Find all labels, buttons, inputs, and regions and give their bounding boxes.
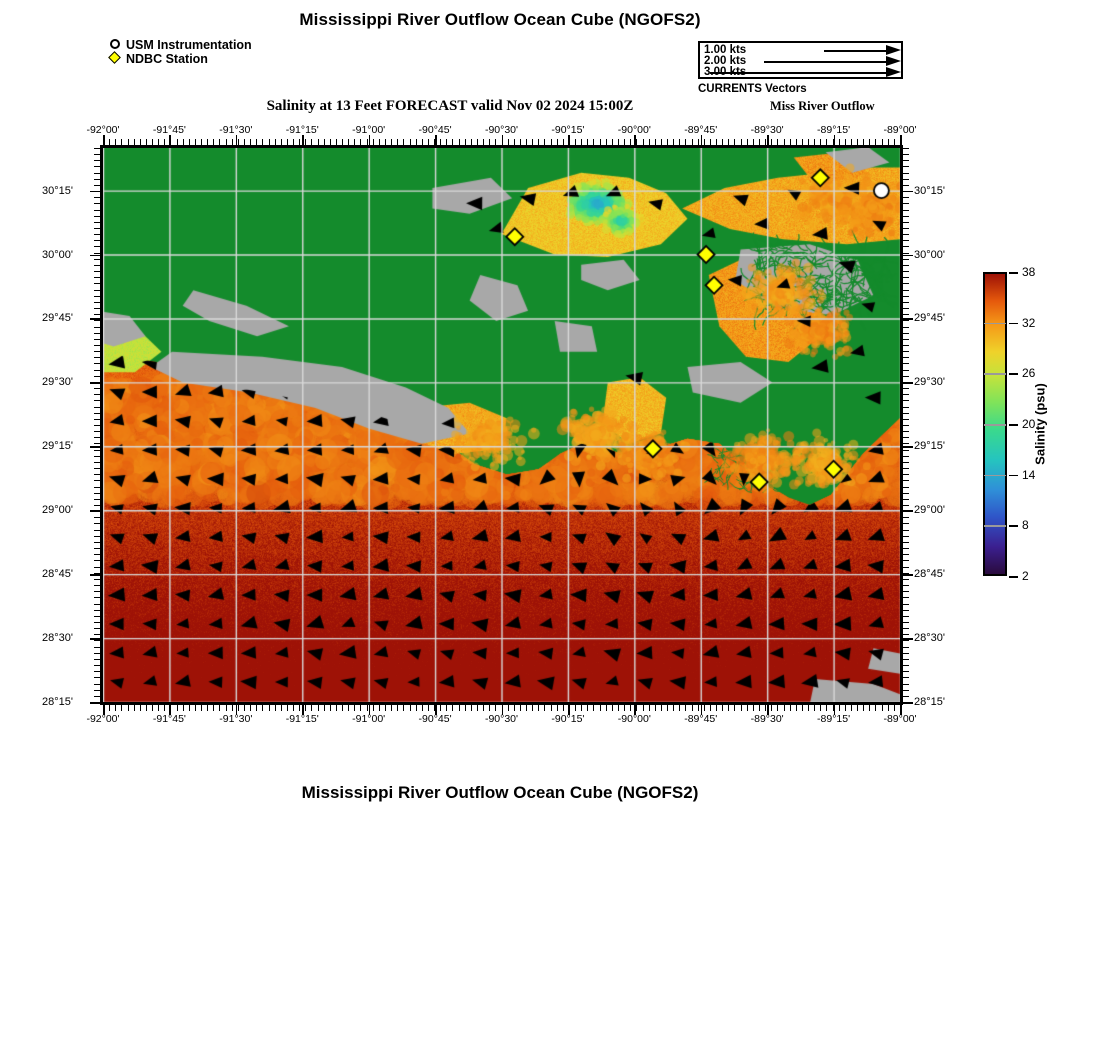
axis-minor-tick: [428, 139, 429, 145]
colorbar-tick: [1009, 475, 1018, 477]
axis-minor-tick: [661, 705, 662, 711]
axis-minor-tick: [189, 705, 190, 711]
axis-minor-tick: [207, 139, 208, 145]
axis-minor-tick: [894, 139, 895, 145]
frame-checker: [100, 387, 103, 396]
axis-minor-tick: [857, 139, 858, 145]
vector-arrow-head-icon: [886, 45, 901, 55]
axis-minor-tick: [226, 705, 227, 711]
axis-minor-tick: [452, 139, 453, 145]
axis-minor-tick: [134, 139, 135, 145]
axis-minor-tick: [177, 139, 178, 145]
axis-minor-tick: [397, 139, 398, 145]
axis-minor-tick: [94, 154, 100, 155]
axis-major-tick: [834, 135, 836, 145]
frame-checker: [729, 702, 738, 705]
axis-minor-tick: [649, 705, 650, 711]
axis-minor-tick: [618, 139, 619, 145]
axis-minor-tick: [140, 705, 141, 711]
axis-major-tick: [90, 574, 100, 576]
axis-minor-tick: [903, 480, 909, 481]
frame-checker: [710, 702, 719, 705]
latitude-tick-label: 29°30': [914, 376, 945, 388]
colorbar-tick-label: 32: [1022, 316, 1035, 330]
axis-minor-tick: [94, 517, 100, 518]
frame-checker: [379, 702, 388, 705]
axis-minor-tick: [636, 139, 637, 145]
axis-minor-tick: [128, 705, 129, 711]
frame-checker: [379, 145, 388, 148]
frame-checker: [765, 145, 774, 148]
axis-minor-tick: [94, 203, 100, 204]
axis-major-tick: [169, 705, 171, 715]
frame-checker: [692, 145, 701, 148]
axis-minor-tick: [440, 705, 441, 711]
axis-minor-tick: [587, 705, 588, 711]
axis-minor-tick: [581, 705, 582, 711]
axis-minor-tick: [679, 705, 680, 711]
axis-minor-tick: [226, 139, 227, 145]
axis-major-tick: [169, 135, 171, 145]
frame-checker: [821, 145, 830, 148]
axis-minor-tick: [903, 517, 909, 518]
frame-checker: [232, 145, 241, 148]
axis-minor-tick: [164, 705, 165, 711]
yellow-diamond-marker-icon: [108, 52, 126, 66]
axis-minor-tick: [710, 139, 711, 145]
axis-minor-tick: [903, 203, 909, 204]
axis-minor-tick: [544, 705, 545, 711]
axis-minor-tick: [903, 302, 909, 303]
frame-checker: [100, 314, 103, 323]
axis-minor-tick: [753, 705, 754, 711]
axis-minor-tick: [94, 290, 100, 291]
axis-major-tick: [767, 135, 769, 145]
axis-minor-tick: [875, 139, 876, 145]
frame-checker: [857, 702, 866, 705]
axis-minor-tick: [403, 139, 404, 145]
axis-minor-tick: [94, 345, 100, 346]
axis-minor-tick: [471, 705, 472, 711]
axis-minor-tick: [551, 705, 552, 711]
axis-minor-tick: [94, 148, 100, 149]
axis-minor-tick: [416, 705, 417, 711]
axis-minor-tick: [219, 705, 220, 711]
frame-checker: [121, 702, 130, 705]
currents-vector-legend: 1.00 kts2.00 kts3.00 kts: [698, 41, 903, 79]
axis-minor-tick: [903, 216, 909, 217]
frame-checker: [100, 608, 103, 617]
axis-minor-tick: [94, 246, 100, 247]
axis-minor-tick: [94, 413, 100, 414]
axis-minor-tick: [146, 139, 147, 145]
axis-minor-tick: [158, 139, 159, 145]
axis-minor-tick: [391, 139, 392, 145]
axis-minor-tick: [673, 139, 674, 145]
latitude-tick-label: 28°30': [914, 632, 945, 644]
axis-minor-tick: [903, 548, 909, 549]
axis-minor-tick: [514, 705, 515, 711]
axis-minor-tick: [903, 345, 909, 346]
axis-minor-tick: [94, 659, 100, 660]
map-plot-area[interactable]: [100, 145, 903, 705]
axis-minor-tick: [538, 705, 539, 711]
latitude-tick-label: 28°45': [42, 568, 73, 580]
axis-minor-tick: [903, 530, 909, 531]
axis-major-tick: [90, 382, 100, 384]
axis-minor-tick: [94, 647, 100, 648]
axis-minor-tick: [318, 705, 319, 711]
frame-checker: [100, 700, 103, 702]
axis-minor-tick: [94, 333, 100, 334]
axis-minor-tick: [575, 139, 576, 145]
frame-checker: [453, 145, 462, 148]
frame-checker: [839, 702, 848, 705]
frame-checker: [655, 702, 664, 705]
axis-minor-tick: [903, 628, 909, 629]
axis-minor-tick: [94, 622, 100, 623]
axis-minor-tick: [618, 705, 619, 711]
frame-checker: [100, 350, 103, 359]
axis-minor-tick: [189, 139, 190, 145]
axis-minor-tick: [164, 139, 165, 145]
axis-minor-tick: [903, 604, 909, 605]
axis-minor-tick: [336, 705, 337, 711]
axis-minor-tick: [636, 705, 637, 711]
frame-checker: [397, 702, 406, 705]
frame-checker: [784, 145, 793, 148]
axis-minor-tick: [514, 139, 515, 145]
axis-minor-tick: [765, 139, 766, 145]
axis-minor-tick: [692, 705, 693, 711]
axis-minor-tick: [903, 450, 909, 451]
axis-minor-tick: [593, 139, 594, 145]
frame-checker: [121, 145, 130, 148]
axis-minor-tick: [903, 468, 909, 469]
axis-minor-tick: [94, 283, 100, 284]
axis-minor-tick: [465, 705, 466, 711]
axis-minor-tick: [903, 591, 909, 592]
axis-major-tick: [90, 702, 100, 704]
axis-minor-tick: [219, 139, 220, 145]
frame-checker: [526, 145, 535, 148]
colorbar-inner-tick: [984, 525, 1006, 527]
axis-major-tick: [568, 705, 570, 715]
frame-checker: [177, 145, 186, 148]
axis-minor-tick: [698, 705, 699, 711]
frame-checker: [100, 295, 103, 304]
latitude-tick-label: 29°15': [914, 440, 945, 452]
axis-minor-tick: [262, 705, 263, 711]
axis-minor-tick: [903, 505, 909, 506]
axis-minor-tick: [903, 148, 909, 149]
axis-minor-tick: [903, 154, 909, 155]
colorbar-tick: [1009, 424, 1018, 426]
frame-checker: [195, 702, 204, 705]
axis-minor-tick: [94, 505, 100, 506]
latitude-tick-label: 28°15': [42, 696, 73, 708]
frame-checker: [100, 516, 103, 525]
axis-minor-tick: [903, 567, 909, 568]
axis-minor-tick: [903, 437, 909, 438]
frame-checker: [100, 332, 103, 341]
frame-checker: [305, 702, 314, 705]
frame-checker: [900, 185, 903, 194]
colorbar-tick: [1009, 272, 1018, 274]
axis-minor-tick: [526, 139, 527, 145]
axis-minor-tick: [94, 690, 100, 691]
axis-minor-tick: [802, 705, 803, 711]
open-circle-marker-icon: [108, 38, 126, 52]
axis-minor-tick: [94, 222, 100, 223]
axis-minor-tick: [728, 139, 729, 145]
frame-checker: [545, 702, 554, 705]
axis-minor-tick: [538, 139, 539, 145]
axis-minor-tick: [452, 705, 453, 711]
axis-minor-tick: [630, 705, 631, 711]
axis-minor-tick: [94, 542, 100, 543]
axis-minor-tick: [94, 431, 100, 432]
latitude-tick-label: 28°15': [914, 696, 945, 708]
frame-checker: [900, 222, 903, 231]
frame-checker: [100, 185, 103, 194]
axis-minor-tick: [863, 705, 864, 711]
axis-minor-tick: [655, 139, 656, 145]
axis-minor-tick: [293, 705, 294, 711]
axis-minor-tick: [152, 705, 153, 711]
frame-checker: [287, 702, 296, 705]
axis-minor-tick: [94, 253, 100, 254]
frame-checker: [100, 148, 103, 157]
axis-minor-tick: [121, 705, 122, 711]
chart-subtitle: Salinity at 13 Feet FORECAST valid Nov 0…: [100, 98, 800, 115]
axis-minor-tick: [213, 705, 214, 711]
axis-minor-tick: [121, 139, 122, 145]
axis-minor-tick: [903, 160, 909, 161]
axis-minor-tick: [94, 474, 100, 475]
axis-minor-tick: [903, 462, 909, 463]
latitude-tick-label: 30°00': [914, 249, 945, 261]
axis-minor-tick: [704, 705, 705, 711]
axis-minor-tick: [903, 271, 909, 272]
axis-minor-tick: [903, 616, 909, 617]
axis-minor-tick: [410, 139, 411, 145]
axis-minor-tick: [903, 431, 909, 432]
currents-vector-caption: CURRENTS Vectors: [698, 83, 807, 95]
frame-checker: [600, 702, 609, 705]
axis-minor-tick: [557, 139, 558, 145]
axis-minor-tick: [94, 640, 100, 641]
colorbar-inner-tick: [984, 373, 1006, 375]
page-caption: Mississippi River Outflow Ocean Cube (NG…: [0, 783, 1000, 803]
axis-minor-tick: [903, 283, 909, 284]
axis-minor-tick: [903, 339, 909, 340]
frame-checker: [213, 145, 222, 148]
axis-major-tick: [834, 705, 836, 715]
axis-minor-tick: [483, 139, 484, 145]
axis-minor-tick: [698, 139, 699, 145]
axis-minor-tick: [903, 179, 909, 180]
axis-minor-tick: [330, 139, 331, 145]
axis-minor-tick: [250, 139, 251, 145]
axis-minor-tick: [903, 370, 909, 371]
axis-major-tick: [90, 318, 100, 320]
axis-minor-tick: [903, 228, 909, 229]
frame-checker: [158, 702, 167, 705]
frame-checker: [100, 571, 103, 580]
axis-minor-tick: [134, 705, 135, 711]
axis-minor-tick: [903, 185, 909, 186]
axis-major-tick: [767, 705, 769, 715]
axis-minor-tick: [232, 705, 233, 711]
frame-checker: [637, 702, 646, 705]
axis-minor-tick: [587, 139, 588, 145]
axis-minor-tick: [94, 327, 100, 328]
axis-minor-tick: [94, 320, 100, 321]
latitude-tick-label: 29°15': [42, 440, 73, 452]
axis-minor-tick: [722, 139, 723, 145]
axis-minor-tick: [747, 139, 748, 145]
axis-minor-tick: [440, 139, 441, 145]
axis-minor-tick: [256, 705, 257, 711]
frame-checker: [857, 145, 866, 148]
axis-minor-tick: [903, 197, 909, 198]
axis-minor-tick: [201, 139, 202, 145]
axis-minor-tick: [324, 705, 325, 711]
axis-minor-tick: [275, 705, 276, 711]
axis-minor-tick: [903, 597, 909, 598]
axis-major-tick: [90, 255, 100, 257]
axis-minor-tick: [903, 290, 909, 291]
axis-major-tick: [903, 510, 913, 512]
axis-major-tick: [369, 705, 371, 715]
axis-minor-tick: [373, 705, 374, 711]
axis-minor-tick: [269, 139, 270, 145]
axis-minor-tick: [903, 166, 909, 167]
axis-minor-tick: [903, 659, 909, 660]
frame-checker: [195, 145, 204, 148]
axis-minor-tick: [94, 370, 100, 371]
axis-minor-tick: [882, 139, 883, 145]
frame-checker: [342, 145, 351, 148]
axis-minor-tick: [673, 705, 674, 711]
legend-item-ndbc: NDBC Station: [108, 52, 252, 66]
vector-arrow-shaft: [764, 61, 886, 63]
axis-minor-tick: [903, 413, 909, 414]
axis-minor-tick: [869, 705, 870, 711]
axis-minor-tick: [94, 376, 100, 377]
axis-minor-tick: [250, 705, 251, 711]
axis-minor-tick: [477, 139, 478, 145]
axis-minor-tick: [685, 705, 686, 711]
frame-checker: [103, 145, 112, 148]
axis-minor-tick: [94, 302, 100, 303]
frame-checker: [100, 277, 103, 286]
axis-minor-tick: [882, 705, 883, 711]
axis-minor-tick: [790, 139, 791, 145]
axis-major-tick: [302, 705, 304, 715]
axis-minor-tick: [903, 407, 909, 408]
axis-minor-tick: [299, 139, 300, 145]
axis-major-tick: [90, 191, 100, 193]
axis-minor-tick: [207, 705, 208, 711]
axis-minor-tick: [94, 591, 100, 592]
axis-minor-tick: [888, 705, 889, 711]
axis-major-tick: [502, 705, 504, 715]
colorbar-inner-tick: [984, 475, 1006, 477]
axis-minor-tick: [903, 536, 909, 537]
axis-minor-tick: [183, 705, 184, 711]
axis-minor-tick: [661, 139, 662, 145]
axis-major-tick: [903, 382, 913, 384]
frame-checker: [637, 145, 646, 148]
axis-major-tick: [435, 705, 437, 715]
axis-major-tick: [903, 638, 913, 640]
axis-minor-tick: [311, 705, 312, 711]
axis-minor-tick: [94, 487, 100, 488]
axis-minor-tick: [734, 139, 735, 145]
axis-minor-tick: [903, 456, 909, 457]
frame-checker: [100, 222, 103, 231]
axis-minor-tick: [612, 139, 613, 145]
page-title: Mississippi River Outflow Ocean Cube (NG…: [0, 10, 1000, 30]
axis-minor-tick: [903, 265, 909, 266]
axis-minor-tick: [903, 333, 909, 334]
axis-minor-tick: [777, 139, 778, 145]
vector-arrow-shaft: [824, 50, 886, 52]
axis-minor-tick: [94, 308, 100, 309]
salinity-heatmap-canvas: [103, 148, 900, 702]
axis-minor-tick: [94, 493, 100, 494]
axis-minor-tick: [903, 246, 909, 247]
axis-minor-tick: [685, 139, 686, 145]
axis-minor-tick: [465, 139, 466, 145]
axis-minor-tick: [336, 139, 337, 145]
colorbar-tick: [1009, 373, 1018, 375]
axis-minor-tick: [903, 351, 909, 352]
frame-checker: [100, 406, 103, 415]
axis-minor-tick: [903, 677, 909, 678]
frame-checker: [747, 145, 756, 148]
frame-checker: [581, 702, 590, 705]
axis-minor-tick: [94, 339, 100, 340]
frame-checker: [618, 145, 627, 148]
axis-minor-tick: [903, 585, 909, 586]
frame-checker: [287, 145, 296, 148]
axis-minor-tick: [330, 705, 331, 711]
frame-checker: [100, 534, 103, 543]
frame-checker: [784, 702, 793, 705]
frame-checker: [100, 682, 103, 691]
axis-minor-tick: [459, 139, 460, 145]
axis-minor-tick: [869, 139, 870, 145]
axis-minor-tick: [403, 705, 404, 711]
frame-checker: [100, 166, 103, 175]
axis-minor-tick: [152, 139, 153, 145]
axis-minor-tick: [177, 705, 178, 711]
frame-checker: [655, 145, 664, 148]
colorbar-tick-label: 38: [1022, 265, 1035, 279]
axis-minor-tick: [600, 705, 601, 711]
axis-minor-tick: [94, 216, 100, 217]
axis-minor-tick: [759, 139, 760, 145]
axis-minor-tick: [903, 487, 909, 488]
axis-minor-tick: [94, 548, 100, 549]
axis-minor-tick: [765, 705, 766, 711]
axis-minor-tick: [551, 139, 552, 145]
axis-minor-tick: [796, 139, 797, 145]
axis-minor-tick: [903, 647, 909, 648]
